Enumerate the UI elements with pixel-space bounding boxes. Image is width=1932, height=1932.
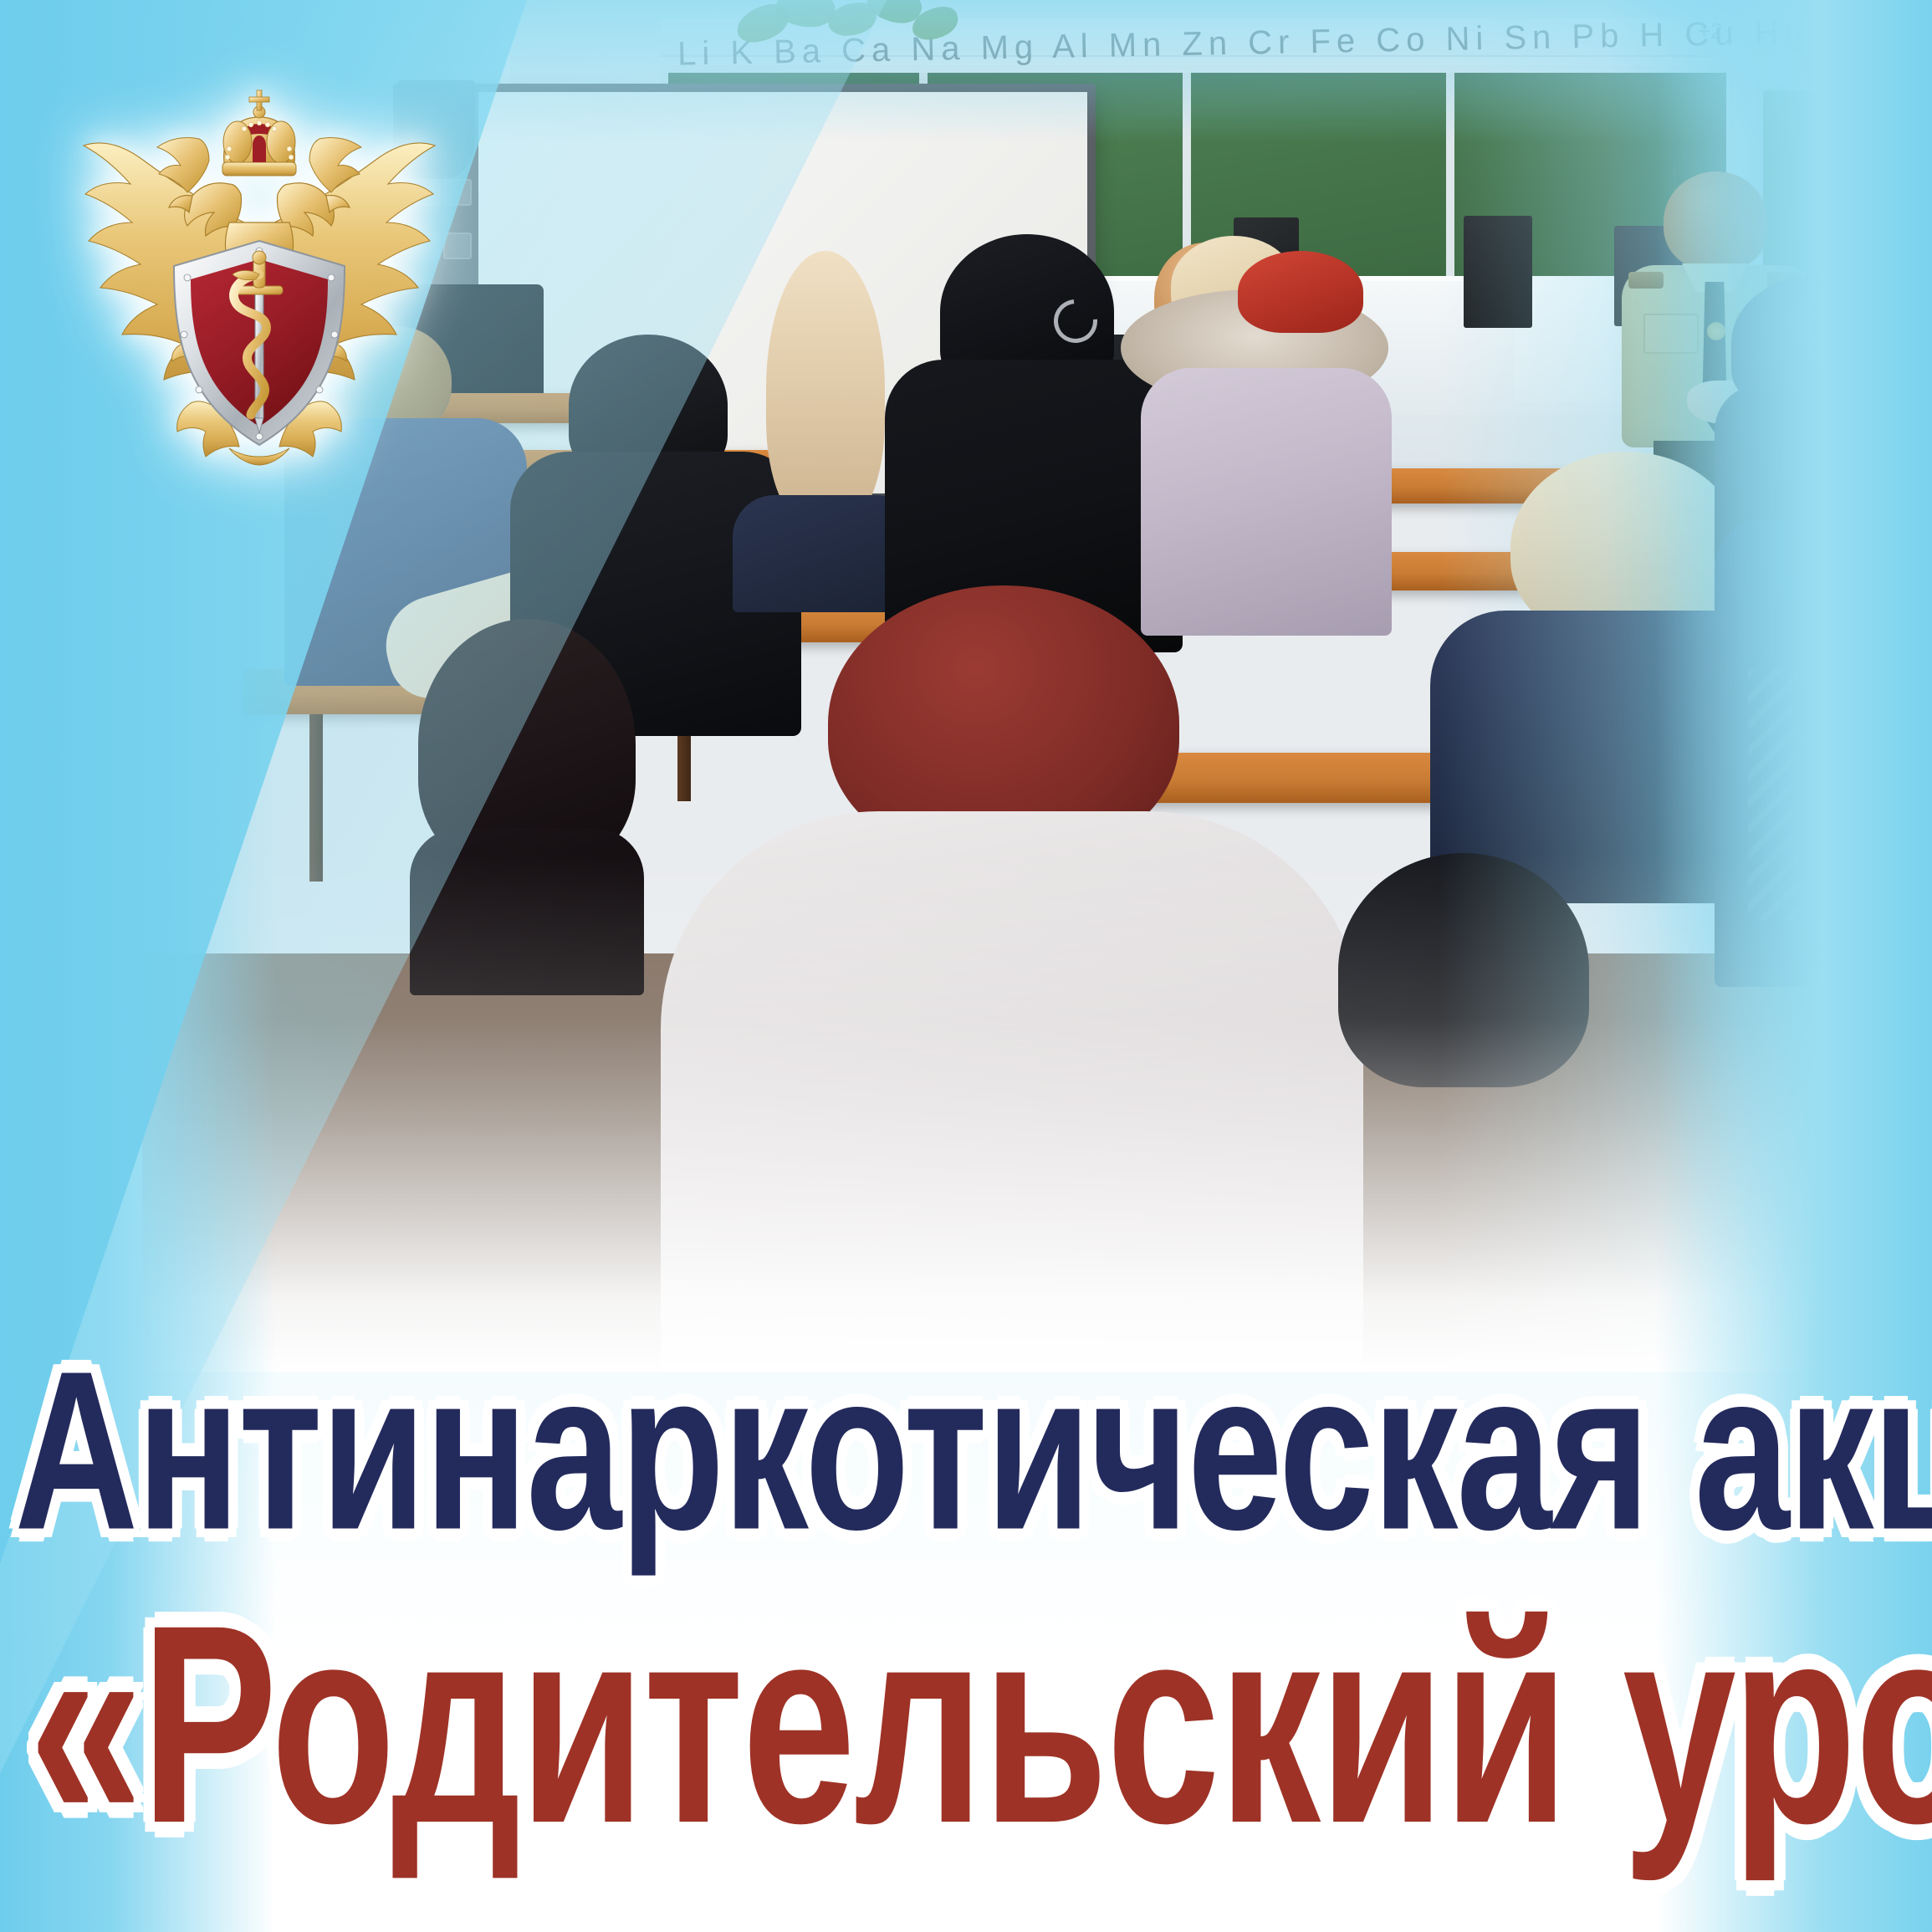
- title-line-1: Антинаркотическая акция: [14, 1338, 1917, 1564]
- russian-drug-control-service-emblem: [50, 59, 468, 485]
- title-line-2: «Родительский урок»: [29, 1584, 1904, 1867]
- attendee-red-hat: [1229, 251, 1380, 368]
- poster-canvas: Li K Ba Ca Na Mg Al Mn Zn Cr Fe Co Ni Sn…: [0, 0, 1932, 1932]
- poster-titles: Антинаркотическая акция «Родительский ур…: [0, 1338, 1932, 1795]
